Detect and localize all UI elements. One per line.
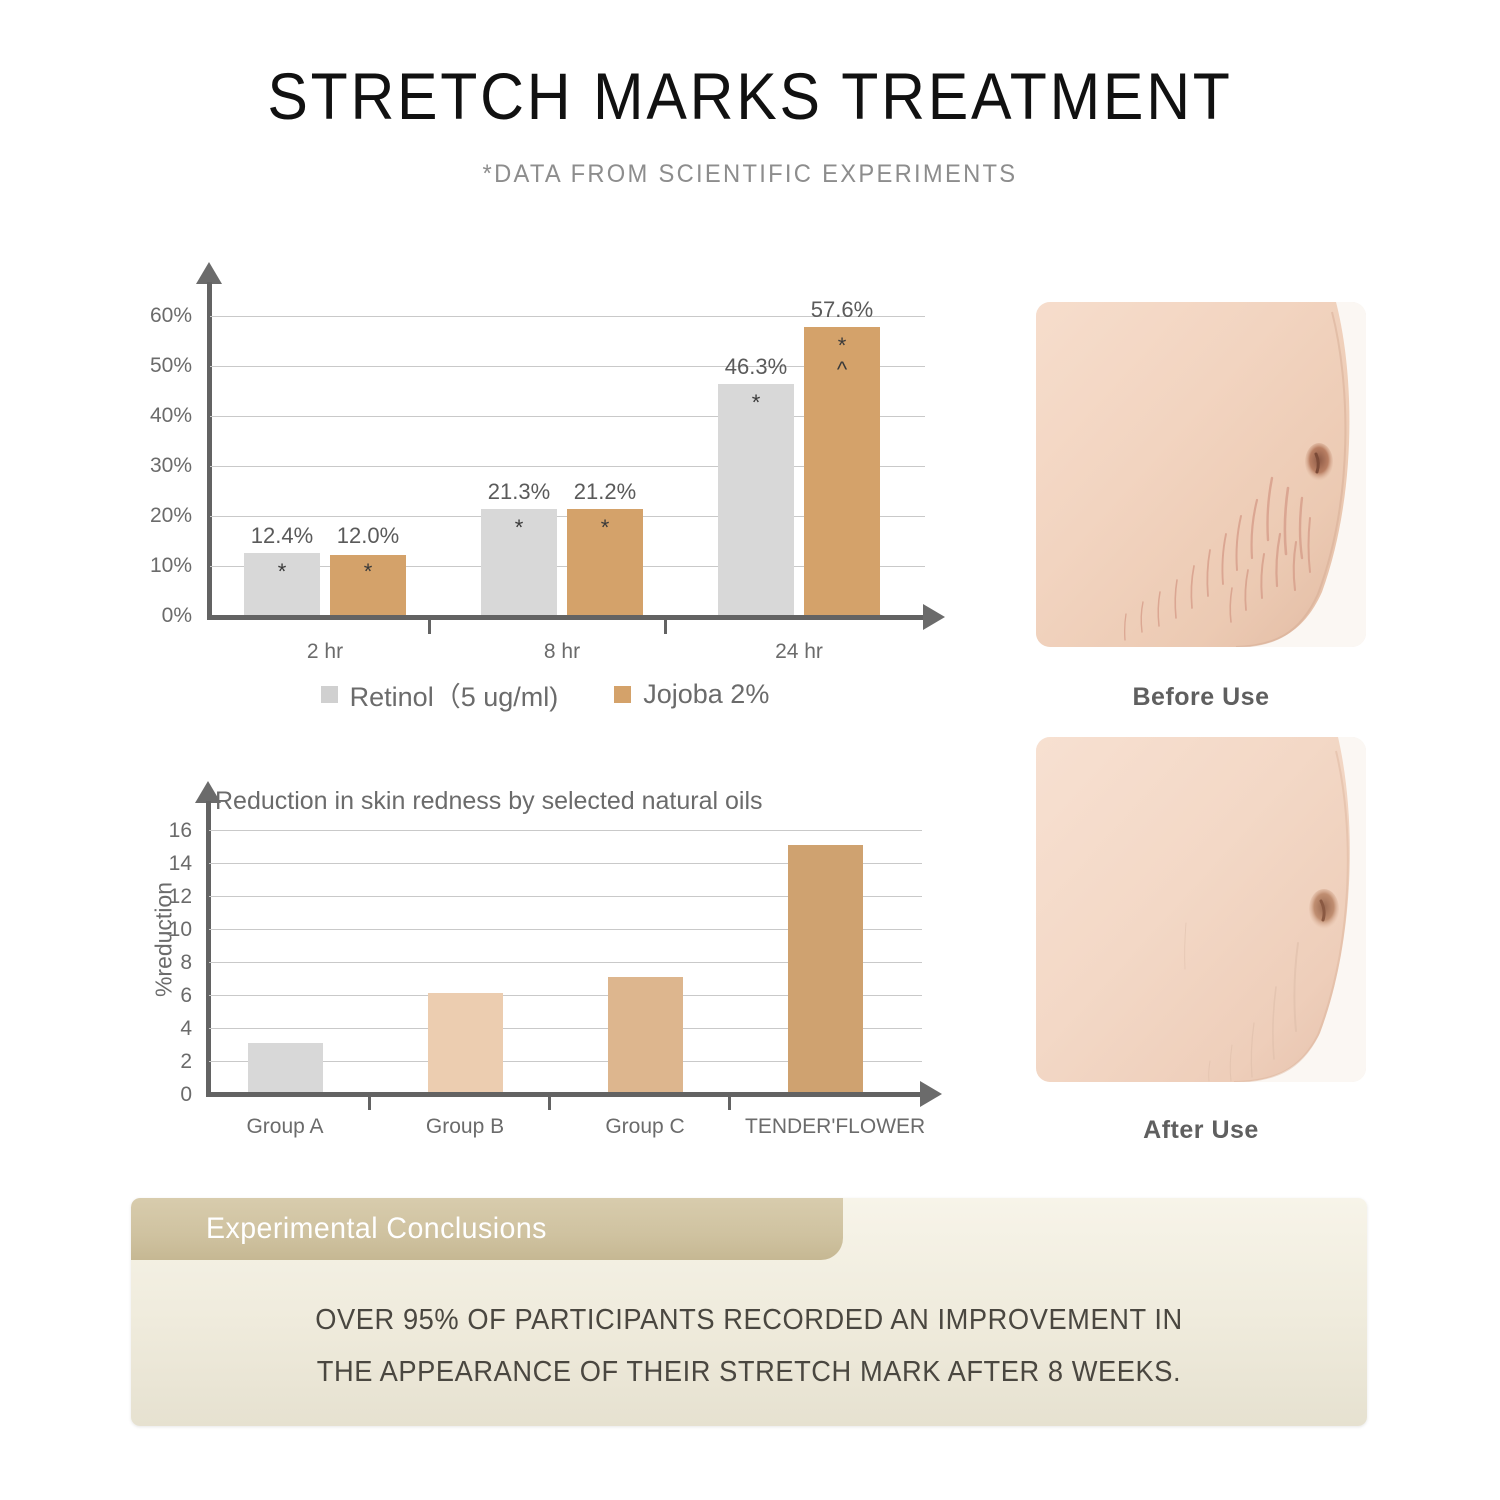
x-axis-arrow-icon xyxy=(920,1081,942,1107)
y-axis-line xyxy=(207,282,212,618)
bar-mark-jojoba-24hr: *^ xyxy=(804,334,880,382)
before-belly-illustration xyxy=(1036,302,1366,647)
x-axis-label-tenderflower: TENDER'FLOWER xyxy=(745,1115,905,1139)
legend-swatch-jojoba-icon xyxy=(614,686,631,703)
bar-mark-jojoba-8hr: * xyxy=(567,516,643,540)
y-tick-label-6: 6 xyxy=(144,984,192,1008)
y-tick-label-60: 60% xyxy=(130,304,192,328)
bar-value-jojoba-2hr: 12.0% xyxy=(320,523,416,549)
bar-tenderflower xyxy=(788,845,863,1092)
x-tick-separator-2 xyxy=(664,620,667,634)
y-tick-label-30: 30% xyxy=(130,454,192,478)
x-axis-line xyxy=(206,1092,922,1097)
x-axis-label-group-b: Group B xyxy=(385,1115,545,1139)
x-axis-label-2hr: 2 hr xyxy=(245,640,405,664)
bar-retinol-24hr xyxy=(718,384,794,615)
y-tick-label-20: 20% xyxy=(130,504,192,528)
y-tick-label-0: 0% xyxy=(130,604,192,628)
bar-chart-absorption: 60% 50% 40% 30% 20% 10% 0% 12.4% * 12.0%… xyxy=(130,268,960,728)
x-axis-label-group-c: Group C xyxy=(565,1115,725,1139)
x-tick-separator-1 xyxy=(368,1097,371,1110)
x-axis-label-group-a: Group A xyxy=(205,1115,365,1139)
bar-mark-jojoba-2hr: * xyxy=(330,560,406,584)
x-tick-separator-1 xyxy=(428,620,431,634)
legend-item-retinol: Retinol（5 ug/ml) xyxy=(321,675,559,714)
y-axis-line xyxy=(206,801,211,1096)
conclusions-title: Experimental Conclusions xyxy=(206,1212,547,1246)
header: STRETCH MARKS TREATMENT *DATA FROM SCIEN… xyxy=(0,58,1500,189)
bar-group-a xyxy=(248,1043,323,1092)
bar-value-retinol-8hr: 21.3% xyxy=(471,479,567,505)
before-use-photo xyxy=(1036,302,1366,647)
after-use-caption: After Use xyxy=(1036,1116,1366,1145)
y-tick-label-10: 10 xyxy=(144,918,192,942)
bar-value-jojoba-8hr: 21.2% xyxy=(557,479,653,505)
conclusions-line-1: OVER 95% OF PARTICIPANTS RECORDED AN IMP… xyxy=(168,1304,1330,1337)
before-use-caption: Before Use xyxy=(1036,683,1366,712)
y-axis-arrow-icon xyxy=(196,262,222,284)
legend-item-jojoba: Jojoba 2% xyxy=(614,679,769,710)
legend-label-retinol: Retinol（5 ug/ml) xyxy=(350,675,559,714)
y-tick-label-4: 4 xyxy=(144,1017,192,1041)
page-title: STRETCH MARKS TREATMENT xyxy=(60,58,1440,134)
gridline-16 xyxy=(209,830,922,831)
y-tick-label-10: 10% xyxy=(130,554,192,578)
x-tick-separator-2 xyxy=(548,1097,551,1110)
y-tick-label-8: 8 xyxy=(144,951,192,975)
bar-value-retinol-24hr: 46.3% xyxy=(708,354,804,380)
bar-group-c xyxy=(608,977,683,1092)
bar-value-retinol-2hr: 12.4% xyxy=(234,523,330,549)
y-tick-label-16: 16 xyxy=(144,819,192,843)
y-tick-label-12: 12 xyxy=(144,885,192,909)
y-tick-label-14: 14 xyxy=(144,852,192,876)
legend-label-jojoba: Jojoba 2% xyxy=(643,679,769,710)
x-axis-label-8hr: 8 hr xyxy=(482,640,642,664)
x-axis-line xyxy=(207,615,925,620)
bar-value-jojoba-24hr: 57.6% xyxy=(794,297,890,323)
bar-mark-retinol-24hr: * xyxy=(718,391,794,415)
y-tick-label-50: 50% xyxy=(130,354,192,378)
experimental-conclusions-panel: Experimental Conclusions OVER 95% OF PAR… xyxy=(131,1198,1367,1426)
chart-legend: Retinol（5 ug/ml) Jojoba 2% xyxy=(130,675,960,714)
after-use-photo xyxy=(1036,737,1366,1082)
bar-group-b xyxy=(428,993,503,1092)
bar-chart-redness-reduction: %reduction 16 14 12 10 8 6 4 2 0 Group A… xyxy=(120,778,960,1168)
page-subtitle: *DATA FROM SCIENTIFIC EXPERIMENTS xyxy=(38,160,1463,189)
x-axis-arrow-icon xyxy=(923,604,945,630)
y-tick-label-2: 2 xyxy=(144,1050,192,1074)
y-tick-label-0: 0 xyxy=(144,1083,192,1107)
y-tick-label-40: 40% xyxy=(130,404,192,428)
legend-swatch-retinol-icon xyxy=(321,686,338,703)
bar-mark-retinol-8hr: * xyxy=(481,516,557,540)
x-axis-label-24hr: 24 hr xyxy=(719,640,879,664)
y-axis-arrow-icon xyxy=(195,781,221,803)
conclusions-line-2: THE APPEARANCE OF THEIR STRETCH MARK AFT… xyxy=(168,1356,1330,1389)
x-tick-separator-3 xyxy=(728,1097,731,1110)
after-belly-illustration xyxy=(1036,737,1366,1082)
bar-mark-retinol-2hr: * xyxy=(244,560,320,584)
